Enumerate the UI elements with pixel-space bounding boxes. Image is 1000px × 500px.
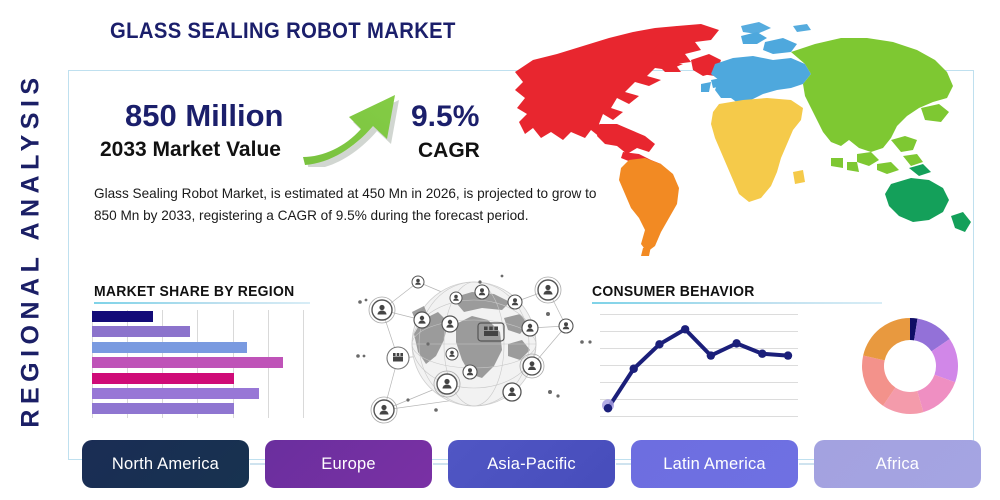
line-marker [630,365,638,373]
line-marker [758,350,766,358]
infographic-root: REGIONAL ANALYSIS GLASS SEALING ROBOT MA… [0,0,1000,500]
region-pill-row: North AmericaEuropeAsia-PacificLatin Ame… [82,440,982,488]
pill-connector [250,463,266,465]
market-share-section-title: MARKET SHARE BY REGION [94,283,294,300]
consumer-behavior-line-chart [600,312,798,418]
region-pill-latin-america[interactable]: Latin America [631,440,798,488]
line-marker [784,351,792,359]
growth-arrow-icon [300,82,415,167]
line-marker [732,339,740,347]
market-value-label: 2033 Market Value [100,138,281,162]
cagr-figure: 9.5% [411,100,479,134]
donut-segment [917,375,955,412]
bar-row [92,403,234,414]
segment-donut-chart [856,312,964,420]
bar-row [92,326,190,337]
world-map-icon [505,12,985,264]
pill-connector [433,463,449,465]
line-marker [604,404,612,412]
vertical-section-label-text: REGIONAL ANALYSIS [17,72,46,427]
region-pill-north-america[interactable]: North America [82,440,249,488]
page-title: GLASS SEALING ROBOT MARKET [110,18,456,44]
region-pill-label: Asia-Pacific [487,455,576,474]
donut-segment [863,318,910,360]
pill-connector [799,463,815,465]
market-share-bar-chart [92,310,304,418]
bar-row [92,388,259,399]
line-marker [681,325,689,333]
bar-row [92,342,247,353]
region-pill-label: Africa [876,455,919,474]
globe-network-icon [352,268,597,428]
market-share-title-rule [94,302,310,304]
region-pill-label: Europe [321,455,375,474]
region-pill-africa[interactable]: Africa [814,440,981,488]
bar-row [92,373,234,384]
cagr-label: CAGR [418,139,480,163]
line-chart-series [600,312,798,418]
bar-row [92,357,283,368]
region-pill-label: North America [112,455,219,474]
region-pill-asia-pacific[interactable]: Asia-Pacific [448,440,615,488]
consumer-behavior-title-rule [592,302,882,304]
pill-connector [616,463,632,465]
line-marker [707,351,715,359]
consumer-behavior-section-title: CONSUMER BEHAVIOR [592,283,755,300]
bar-row [92,311,153,322]
line-marker [655,340,663,348]
market-value-figure: 850 Million [125,98,283,134]
region-pill-europe[interactable]: Europe [265,440,432,488]
vertical-section-label: REGIONAL ANALYSIS [0,0,62,500]
region-pill-label: Latin America [663,455,766,474]
